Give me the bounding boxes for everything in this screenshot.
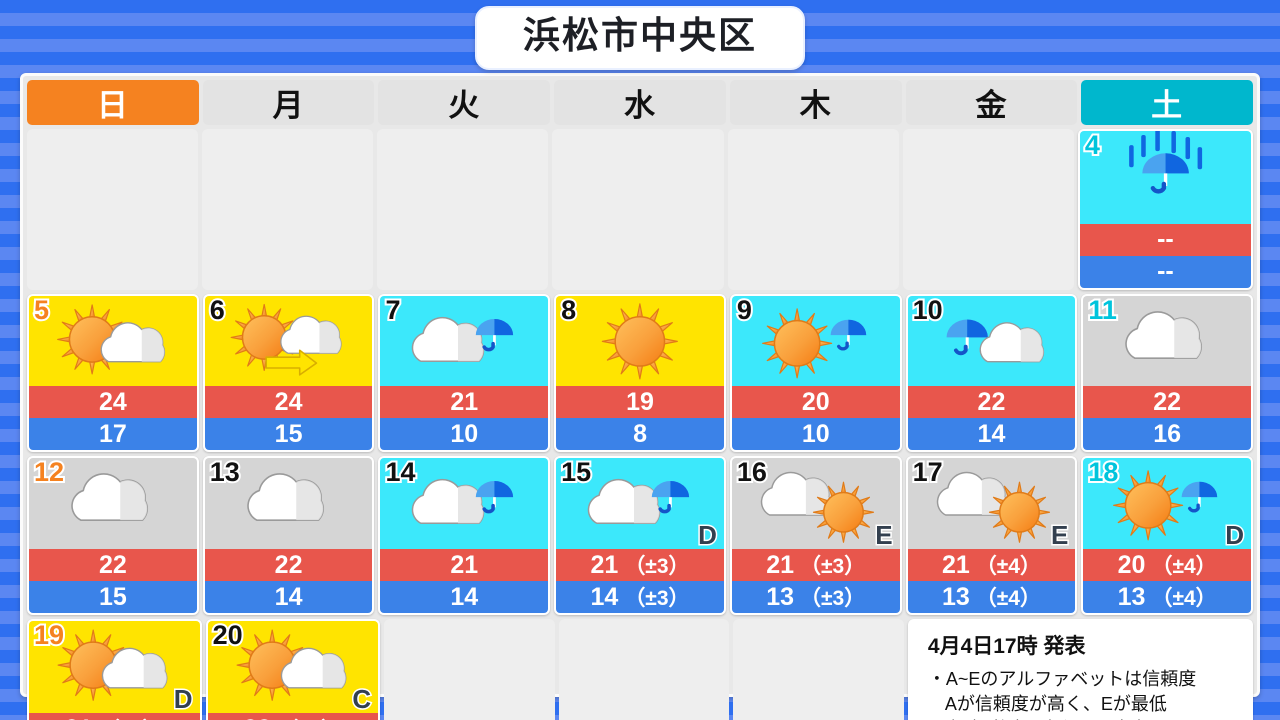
temperature-min-range: （±4） xyxy=(976,582,1041,612)
temperature-min-bar: 10 xyxy=(380,418,548,450)
weather-icon-area: 7 xyxy=(380,296,548,387)
day-cell-14[interactable]: 14 21 14 xyxy=(378,456,550,615)
weather-icon-area: 16 E xyxy=(732,458,900,549)
day-number: 20 xyxy=(213,621,243,649)
page-title-text: 浜松市中央区 xyxy=(523,15,757,56)
temperature-min-value: 8 xyxy=(633,420,647,449)
calendar-cell-empty xyxy=(903,129,1074,290)
day-cell-9[interactable]: 9 20 10 xyxy=(730,294,902,453)
temperature-min-bar: 17 xyxy=(29,418,197,450)
weekday-label: 水 xyxy=(624,80,656,125)
temperature-min-bar: 15 xyxy=(205,418,373,450)
temperature-min-range: （±3） xyxy=(800,582,865,612)
day-number: 17 xyxy=(913,458,943,486)
temperature-min-value: 14 xyxy=(591,583,619,612)
calendar-cell-empty xyxy=(384,619,555,720)
confidence-letter: C xyxy=(352,684,371,715)
day-number: 15 xyxy=(561,458,591,486)
temperature-max-range: （±4） xyxy=(1151,550,1216,580)
temperature-max-value: 20 xyxy=(802,388,830,417)
weather-icon-area: 5 xyxy=(29,296,197,387)
weather-icon-area: 12 xyxy=(29,458,197,549)
weather-icon-sun xyxy=(556,296,724,387)
calendar-cell-empty xyxy=(559,619,730,720)
temperature-max-value: 22 xyxy=(1153,388,1181,417)
day-number: 8 xyxy=(561,296,576,324)
temperature-min-bar: 13 （±4） xyxy=(908,581,1076,613)
day-number: 10 xyxy=(913,296,943,324)
weather-icon-area: 15 D xyxy=(556,458,724,549)
weather-icon-area: 13 xyxy=(205,458,373,549)
temperature-max-bar: 22 xyxy=(1083,386,1251,418)
confidence-letter: E xyxy=(1051,520,1068,551)
weather-icon-cloud-umbrella xyxy=(380,296,548,387)
day-cell-11[interactable]: 11 22 16 xyxy=(1081,294,1253,453)
temperature-min-value: -- xyxy=(1157,257,1174,286)
calendar-week-row: 4 -- -- xyxy=(27,129,1253,290)
calendar-week-row: 19 D 21 （±4） 12 （±4） 20 C xyxy=(27,619,1253,720)
calendar-cell-empty xyxy=(202,129,373,290)
temperature-min-bar: 15 xyxy=(29,581,197,613)
temperature-max-bar: 21 （±3） xyxy=(556,549,724,581)
temperature-min-value: 10 xyxy=(802,420,830,449)
day-cell-18[interactable]: 18 D 20 （±4） 13 （±4） xyxy=(1081,456,1253,615)
temperature-max-bar: 22 xyxy=(908,386,1076,418)
weather-icon-sun-cloud xyxy=(29,296,197,387)
confidence-letter: D xyxy=(1225,520,1244,551)
temperature-max-bar: 24 xyxy=(205,386,373,418)
forecast-note-box: 4月4日17時 発表・A~Eのアルファベットは信頼度Aが信頼度が高く、Eが最低・… xyxy=(908,619,1253,720)
day-number: 18 xyxy=(1088,458,1118,486)
temperature-min-value: 15 xyxy=(275,420,303,449)
day-cell-19[interactable]: 19 D 21 （±4） 12 （±4） xyxy=(27,619,202,720)
day-cell-10[interactable]: 10 22 14 xyxy=(906,294,1078,453)
temperature-min-bar: -- xyxy=(1080,256,1251,288)
temperature-max-value: 21 xyxy=(591,551,619,580)
day-cell-16[interactable]: 16 E 21 （±3） 13 （±3） xyxy=(730,456,902,615)
day-number: 9 xyxy=(737,296,752,324)
note-content: 4月4日17時 発表・A~Eのアルファベットは信頼度Aが信頼度が高く、Eが最低・… xyxy=(910,621,1251,720)
temperature-max-value: -- xyxy=(1157,225,1174,254)
temperature-max-value: 21 xyxy=(450,551,478,580)
day-number: 16 xyxy=(737,458,767,486)
weekday-label: 木 xyxy=(800,80,832,125)
temperature-max-value: 22 xyxy=(275,551,303,580)
day-number: 5 xyxy=(34,296,49,324)
confidence-letter: D xyxy=(698,520,717,551)
issue-datetime: 4月4日17時 発表 xyxy=(928,630,1237,660)
temperature-max-bar: 20 xyxy=(732,386,900,418)
calendar-week-row: 5 24 17 6 xyxy=(27,294,1253,453)
temperature-max-value: 22 xyxy=(978,388,1006,417)
day-cell-6[interactable]: 6 24 15 xyxy=(203,294,375,453)
temperature-min-value: 16 xyxy=(1153,420,1181,449)
calendar-cell-empty xyxy=(552,129,723,290)
weather-icon-area: 4 xyxy=(1080,131,1251,224)
weekday-header-水: 水 xyxy=(554,80,726,125)
temperature-max-range: （±3） xyxy=(277,714,342,720)
temperature-max-bar: 21 xyxy=(380,549,548,581)
weekday-header-土: 土 xyxy=(1081,80,1253,125)
temperature-min-value: 10 xyxy=(450,420,478,449)
day-number: 6 xyxy=(210,296,225,324)
temperature-min-value: 13 xyxy=(766,583,794,612)
weekday-label: 火 xyxy=(448,80,480,125)
temperature-max-value: 24 xyxy=(99,388,127,417)
weekday-header-木: 木 xyxy=(730,80,902,125)
temperature-min-range: （±4） xyxy=(1151,582,1216,612)
day-cell-15[interactable]: 15 D 21 （±3） 14 （±3） xyxy=(554,456,726,615)
temperature-min-bar: 16 xyxy=(1083,418,1251,450)
weather-icon-area: 9 xyxy=(732,296,900,387)
temperature-max-range: （±4） xyxy=(976,550,1041,580)
weather-icon-area: 18 D xyxy=(1083,458,1251,549)
weather-icon-rain-umbrella xyxy=(1080,131,1251,224)
temperature-min-bar: 14 （±3） xyxy=(556,581,724,613)
weekday-header-月: 月 xyxy=(203,80,375,125)
temperature-max-bar: 20 （±4） xyxy=(1083,549,1251,581)
weather-icon-area: 6 xyxy=(205,296,373,387)
day-cell-5[interactable]: 5 24 17 xyxy=(27,294,199,453)
weekday-label: 土 xyxy=(1151,80,1183,125)
calendar-cell-empty xyxy=(733,619,904,720)
weekday-header-日: 日 xyxy=(27,80,199,125)
weekday-label: 日 xyxy=(97,80,129,125)
day-cell-13[interactable]: 13 22 14 xyxy=(203,456,375,615)
temperature-max-value: 24 xyxy=(275,388,303,417)
temperature-max-bar: 21 （±3） xyxy=(732,549,900,581)
weather-icon-area: 10 xyxy=(908,296,1076,387)
weather-icon-area: 19 D xyxy=(29,621,200,713)
day-cell-17[interactable]: 17 E 21 （±4） 13 （±4） xyxy=(906,456,1078,615)
temperature-max-value: 19 xyxy=(626,388,654,417)
temperature-min-value: 14 xyxy=(978,420,1006,449)
calendar-cell-empty xyxy=(27,129,198,290)
calendar-cell-empty xyxy=(377,129,548,290)
weekday-header-金: 金 xyxy=(906,80,1078,125)
temperature-max-range: （±3） xyxy=(800,550,865,580)
page-title: 浜松市中央区 xyxy=(475,6,805,70)
weather-icon-area: 17 E xyxy=(908,458,1076,549)
temperature-max-range: （±4） xyxy=(99,714,164,720)
weather-calendar-panel: 日月火水木金土 4 -- -- 5 xyxy=(20,73,1260,697)
temperature-max-bar: 22 xyxy=(29,549,197,581)
day-number: 7 xyxy=(385,296,400,324)
temperature-min-bar: 8 xyxy=(556,418,724,450)
temperature-min-value: 13 xyxy=(942,583,970,612)
temperature-max-bar: 24 xyxy=(29,386,197,418)
title-bar: 浜松市中央区 xyxy=(0,6,1280,70)
temperature-max-value: 22 xyxy=(243,715,271,720)
confidence-letter: D xyxy=(174,684,193,715)
note-line-1: Aが信頼度が高く、Eが最低 xyxy=(928,692,1237,717)
day-cell-12[interactable]: 12 22 15 xyxy=(27,456,199,615)
weather-icon-area: 8 xyxy=(556,296,724,387)
day-number: 13 xyxy=(210,458,240,486)
calendar-week-row: 12 22 15 13 xyxy=(27,456,1253,615)
temperature-min-value: 15 xyxy=(99,583,127,612)
temperature-max-bar: 19 xyxy=(556,386,724,418)
weather-icon-area: 14 xyxy=(380,458,548,549)
temperature-min-bar: 14 xyxy=(205,581,373,613)
temperature-max-bar: -- xyxy=(1080,224,1251,256)
temperature-max-value: 20 xyxy=(1118,551,1146,580)
temperature-min-value: 14 xyxy=(450,583,478,612)
temperature-min-value: 13 xyxy=(1118,583,1146,612)
weather-icon-area: 11 xyxy=(1083,296,1251,387)
temperature-min-value: 14 xyxy=(275,583,303,612)
temperature-min-bar: 13 （±3） xyxy=(732,581,900,613)
temperature-max-value: 21 xyxy=(450,388,478,417)
weekday-label: 月 xyxy=(273,80,305,125)
weekday-header-火: 火 xyxy=(378,80,550,125)
day-cell-4[interactable]: 4 -- -- xyxy=(1078,129,1253,290)
day-cell-7[interactable]: 7 21 10 xyxy=(378,294,550,453)
confidence-letter: E xyxy=(875,520,892,551)
day-number: 19 xyxy=(34,621,64,649)
weather-icon-sun-then-cloud xyxy=(205,296,373,387)
temperature-max-value: 21 xyxy=(65,715,93,720)
weather-icon-sun-umbrella xyxy=(732,296,900,387)
temperature-min-bar: 14 xyxy=(908,418,1076,450)
day-number: 11 xyxy=(1088,296,1117,324)
day-cell-8[interactable]: 8 19 8 xyxy=(554,294,726,453)
weekday-label: 金 xyxy=(975,80,1007,125)
temperature-min-bar: 14 xyxy=(380,581,548,613)
temperature-min-value: 17 xyxy=(99,420,127,449)
temperature-max-bar: 21 （±4） xyxy=(908,549,1076,581)
temperature-max-value: 21 xyxy=(766,551,794,580)
temperature-max-value: 22 xyxy=(99,551,127,580)
calendar-weeks: 4 -- -- 5 xyxy=(27,125,1253,720)
day-number: 4 xyxy=(1085,131,1100,159)
temperature-max-bar: 22 xyxy=(205,549,373,581)
note-line-0: ・A~Eのアルファベットは信頼度 xyxy=(928,667,1237,692)
calendar-cell-empty xyxy=(728,129,899,290)
temperature-min-bar: 10 xyxy=(732,418,900,450)
temperature-max-value: 21 xyxy=(942,551,970,580)
temperature-max-bar: 21 xyxy=(380,386,548,418)
day-cell-20[interactable]: 20 C 22 （±3） 13 （±4） xyxy=(206,619,381,720)
weather-icon-area: 20 C xyxy=(208,621,379,713)
day-number: 14 xyxy=(385,458,415,486)
weekday-header-row: 日月火水木金土 xyxy=(27,80,1253,125)
day-number: 12 xyxy=(34,458,64,486)
temperature-min-bar: 13 （±4） xyxy=(1083,581,1251,613)
temperature-min-range: （±3） xyxy=(624,582,689,612)
temperature-max-range: （±3） xyxy=(624,550,689,580)
